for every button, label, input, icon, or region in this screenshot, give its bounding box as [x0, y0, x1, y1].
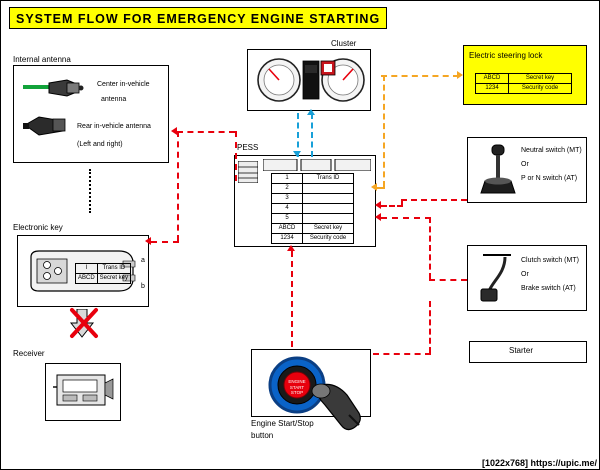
clutch-switch-line1: Clutch switch (MT): [521, 257, 579, 264]
connector-neutral-to-pess: [381, 205, 403, 207]
connector-key-horiz: [151, 241, 179, 243]
pess-cell-r5c1: Secret key: [303, 224, 354, 234]
connector-neutral-horiz: [401, 199, 467, 201]
connector-engine-starter-vert: [429, 301, 431, 353]
pess-cell-r5c0: ABCD: [272, 224, 303, 234]
arrow-esl-to-pess: [371, 183, 377, 191]
pess-cell-r3c0: 4: [272, 204, 303, 214]
connector-esl-to-pess: [377, 187, 385, 189]
pedal-icon: [477, 251, 521, 305]
connector-clutch-to-pess: [381, 217, 431, 219]
pess-title: PESS: [237, 143, 258, 152]
arrow-clutch-to-pess: [375, 213, 381, 221]
steering-lock-title: Electric steering lock: [469, 51, 542, 60]
pess-cell-r0c1: Trans ID: [303, 174, 354, 184]
key-label-b: b: [141, 283, 145, 290]
table-row: 4: [272, 204, 354, 214]
shifter-icon: [479, 143, 519, 197]
rear-antenna-sublabel: (Left and right): [77, 141, 123, 148]
center-antenna-label-2: antenna: [101, 96, 126, 103]
table-row: 5: [272, 214, 354, 224]
pess-cell-r2c0: 3: [272, 194, 303, 204]
pess-cell-r4c0: 5: [272, 214, 303, 224]
esl-cell-abcd: ABCD: [476, 74, 509, 84]
electronic-key-table: I Trans ID ABCD Secret key: [75, 263, 131, 284]
pess-cell-r1c1: [303, 184, 354, 194]
connector-pess-antenna: [177, 131, 235, 133]
receiver-title: Receiver: [13, 349, 45, 358]
key-cell-abcd: ABCD: [76, 274, 98, 284]
connector-pess-left-vert: [235, 131, 237, 181]
center-antenna-icon: [23, 77, 85, 99]
connector-engine-starter-horiz: [373, 353, 431, 355]
connector-key-vert: [177, 131, 179, 241]
pess-cell-r2c1: [303, 194, 354, 204]
cluster-title: Cluster: [331, 39, 356, 48]
pess-cell-r4c1: [303, 214, 354, 224]
steering-lock-table: ABCDSecret key 1234Security code: [475, 73, 572, 94]
receiver-icon: [51, 369, 115, 415]
pess-table: 1Trans ID 2 3 4 5 ABCDSecret key 1234Sec…: [271, 173, 354, 244]
page-title-text: SYSTEM FLOW FOR EMERGENCY ENGINE STARTIN…: [16, 12, 380, 26]
neutral-switch-line3: P or N switch (AT): [521, 175, 577, 182]
table-row: 1234Security code: [272, 234, 354, 244]
esl-cell-1234: 1234: [476, 84, 509, 94]
rear-antenna-label: Rear in-vehicle antenna: [77, 123, 151, 130]
neutral-switch-line1: Neutral switch (MT): [521, 147, 582, 154]
table-row: ABCDSecret key: [272, 224, 354, 234]
pess-cell-r3c1: [303, 204, 354, 214]
diagram-root: SYSTEM FLOW FOR EMERGENCY ENGINE STARTIN…: [0, 0, 600, 470]
arrow-to-pess-blue: [293, 151, 301, 157]
arrow-neutral-to-pess: [375, 201, 381, 209]
connector-clutch-vert: [429, 217, 431, 279]
engine-button-label-1: Engine Start/Stop: [251, 419, 314, 428]
arrow-engine-to-pess: [287, 245, 295, 251]
arrow-to-key: [145, 237, 151, 245]
footer-watermark: [1022x768] https://upic.me/: [482, 458, 597, 468]
cross-mark-icon: [69, 307, 99, 339]
rear-antenna-icon: [23, 113, 71, 139]
connector-cluster-up: [311, 113, 313, 157]
key-cell-secret: Secret key: [97, 274, 130, 284]
svg-text:ENGINE: ENGINE: [288, 379, 305, 384]
cluster-icon: [251, 53, 367, 107]
table-row: 2: [272, 184, 354, 194]
pess-cell-r6c0: 1234: [272, 234, 303, 244]
table-row: ABCD Secret key: [76, 274, 131, 284]
engine-button-label-2: button: [251, 431, 273, 440]
connector-esl-vert: [383, 75, 385, 187]
starter-label: Starter: [509, 346, 533, 355]
clutch-switch-line3: Brake switch (AT): [521, 285, 576, 292]
center-antenna-label-1: Center in-vehicle: [97, 81, 150, 88]
pess-cell-r0c0: 1: [272, 174, 303, 184]
pess-cell-r6c1: Security code: [303, 234, 354, 244]
antenna-key-dots: [89, 169, 91, 213]
key-label-a: a: [141, 257, 145, 264]
svg-text:STOP: STOP: [291, 390, 303, 395]
table-row: 3: [272, 194, 354, 204]
key-cell-transid: Trans ID: [97, 264, 130, 274]
neutral-switch-line2: Or: [521, 161, 529, 168]
esl-cell-secret: Secret key: [509, 74, 572, 84]
pess-cell-r1c0: 2: [272, 184, 303, 194]
connector-clutch-horiz: [429, 279, 467, 281]
arrow-to-esl: [457, 71, 463, 79]
connector-esl-horiz: [381, 75, 459, 77]
page-title: SYSTEM FLOW FOR EMERGENCY ENGINE STARTIN…: [9, 7, 387, 29]
pess-connector-icon: [238, 161, 258, 183]
electronic-key-title: Electronic key: [13, 223, 63, 232]
arrow-to-cluster-blue: [307, 109, 315, 115]
table-row: 1Trans ID: [272, 174, 354, 184]
clutch-switch-line2: Or: [521, 271, 529, 278]
table-row: 1234Security code: [476, 84, 572, 94]
table-row: I Trans ID: [76, 264, 131, 274]
internal-antenna-title: Internal antenna: [13, 55, 71, 64]
pess-top-ports-icon: [263, 158, 371, 170]
esl-cell-seccode: Security code: [509, 84, 572, 94]
connector-pess-engine-vert: [291, 251, 293, 347]
key-cell-id: I: [76, 264, 98, 274]
table-row: ABCDSecret key: [476, 74, 572, 84]
